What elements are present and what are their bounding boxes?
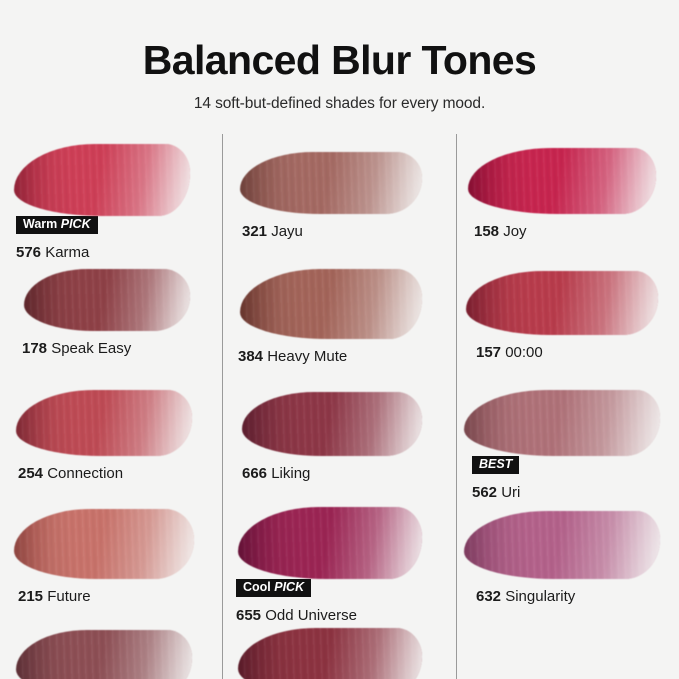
swatch-cell[interactable]: Warm PICK576 Karma	[0, 144, 222, 249]
shade-number: 655	[236, 607, 261, 624]
status-badge: Cool PICK	[236, 579, 311, 597]
swatch-cell[interactable]: 666 Liking	[222, 392, 456, 497]
lipstick-swatch	[240, 269, 422, 339]
swatch-cell[interactable]: 215 Future	[0, 509, 222, 614]
shade-name: Future	[43, 588, 91, 605]
swatch-fade-tail	[242, 392, 422, 456]
swatch-cell[interactable]: 254 Connection	[0, 390, 222, 495]
swatch-cell[interactable]: 321 Jayu	[222, 152, 456, 257]
shade-caption: 158 Joy	[474, 224, 679, 241]
swatch-fade-tail	[464, 390, 660, 456]
shade-number: 666	[242, 465, 267, 482]
shade-number: 632	[476, 588, 501, 605]
shade-name: Odd Universe	[261, 607, 357, 624]
shade-name: 00:00	[501, 344, 543, 361]
swatch-fade-tail	[238, 628, 422, 679]
column-1: Warm PICK576 Karma178 Speak Easy254 Conn…	[0, 134, 222, 679]
lipstick-swatch	[16, 390, 192, 456]
shade-number: 158	[474, 223, 499, 240]
shade-caption: 321 Jayu	[242, 224, 456, 241]
swatch-cell[interactable]: 632 Singularity	[456, 511, 679, 616]
lipstick-swatch	[468, 148, 656, 214]
lipstick-swatch	[16, 630, 192, 679]
shade-name: Jayu	[267, 223, 303, 240]
shade-number: 215	[18, 588, 43, 605]
column-2: 321 Jayu384 Heavy Mute666 LikingCool PIC…	[222, 134, 456, 679]
swatch-cell[interactable]: BEST562 Uri	[456, 390, 679, 495]
swatch-fade-tail	[14, 144, 190, 216]
swatch-chart-page: Balanced Blur Tones 14 soft-but-defined …	[0, 0, 679, 679]
swatch-fade-tail	[464, 511, 660, 579]
header: Balanced Blur Tones 14 soft-but-defined …	[0, 0, 679, 113]
badge-label-regular: Cool	[243, 580, 274, 594]
badge-label-italic: PICK	[274, 580, 304, 594]
lipstick-swatch	[14, 509, 194, 579]
lipstick-swatch	[242, 392, 422, 456]
shade-caption: 215 Future	[18, 589, 222, 606]
shade-name: Joy	[499, 223, 527, 240]
swatch-cell[interactable]: Cool PICK655 Odd Universe	[222, 507, 456, 612]
badge-row: Cool PICK	[236, 579, 456, 601]
swatch-cell[interactable]: 158 Joy	[456, 148, 679, 253]
shade-caption: 632 Singularity	[476, 589, 679, 606]
status-badge: BEST	[472, 456, 519, 474]
badge-label-italic: PICK	[61, 217, 91, 231]
swatch-fade-tail	[16, 630, 192, 679]
swatch-fade-tail	[468, 148, 656, 214]
badge-label-regular: Warm	[23, 217, 61, 231]
lipstick-swatch	[464, 390, 660, 456]
status-badge: Warm PICK	[16, 216, 98, 234]
swatch-fade-tail	[16, 390, 192, 456]
lipstick-swatch	[14, 144, 190, 216]
swatch-cell[interactable]: 178 Speak Easy	[0, 269, 222, 374]
shade-name: Karma	[41, 244, 89, 261]
shade-caption: 576 Karma	[16, 245, 222, 262]
swatch-cell[interactable]: 788 Arise	[222, 628, 456, 679]
lipstick-swatch	[466, 271, 658, 335]
swatch-fade-tail	[14, 509, 194, 579]
page-subtitle: 14 soft-but-defined shades for every moo…	[0, 81, 679, 113]
swatch-fade-tail	[466, 271, 658, 335]
swatch-cell[interactable]: 157 00:00	[456, 271, 679, 376]
swatch-fade-tail	[240, 152, 422, 214]
swatch-fade-tail	[24, 269, 190, 331]
shade-name: Heavy Mute	[263, 348, 347, 365]
shade-number: 321	[242, 223, 267, 240]
badge-label-italic: BEST	[479, 457, 512, 471]
swatch-cell[interactable]: 735 Switched	[0, 630, 222, 679]
shade-number: 157	[476, 344, 501, 361]
swatch-fade-tail	[238, 507, 422, 579]
swatch-columns: Warm PICK576 Karma178 Speak Easy254 Conn…	[0, 134, 679, 679]
shade-caption: 666 Liking	[242, 466, 456, 483]
shade-caption: 655 Odd Universe	[236, 608, 456, 625]
lipstick-swatch	[464, 511, 660, 579]
shade-caption: 384 Heavy Mute	[238, 349, 456, 366]
column-3: 158 Joy157 00:00BEST562 Uri632 Singulari…	[456, 134, 679, 679]
swatch-cell[interactable]: 384 Heavy Mute	[222, 269, 456, 374]
page-title: Balanced Blur Tones	[0, 0, 679, 81]
shade-caption: 254 Connection	[18, 466, 222, 483]
shade-caption: 157 00:00	[476, 345, 679, 362]
swatch-fade-tail	[240, 269, 422, 339]
shade-name: Speak Easy	[47, 340, 131, 357]
shade-number: 254	[18, 465, 43, 482]
shade-name: Uri	[497, 484, 520, 501]
shade-name: Connection	[43, 465, 123, 482]
lipstick-swatch	[24, 269, 190, 331]
badge-row: BEST	[472, 456, 679, 478]
shade-number: 576	[16, 244, 41, 261]
shade-name: Liking	[267, 465, 310, 482]
shade-caption: 178 Speak Easy	[22, 341, 222, 358]
lipstick-swatch	[240, 152, 422, 214]
shade-number: 384	[238, 348, 263, 365]
shade-number: 562	[472, 484, 497, 501]
badge-row: Warm PICK	[16, 216, 222, 238]
shade-caption: 562 Uri	[472, 485, 679, 502]
lipstick-swatch	[238, 507, 422, 579]
shade-number: 178	[22, 340, 47, 357]
shade-name: Singularity	[501, 588, 575, 605]
lipstick-swatch	[238, 628, 422, 679]
